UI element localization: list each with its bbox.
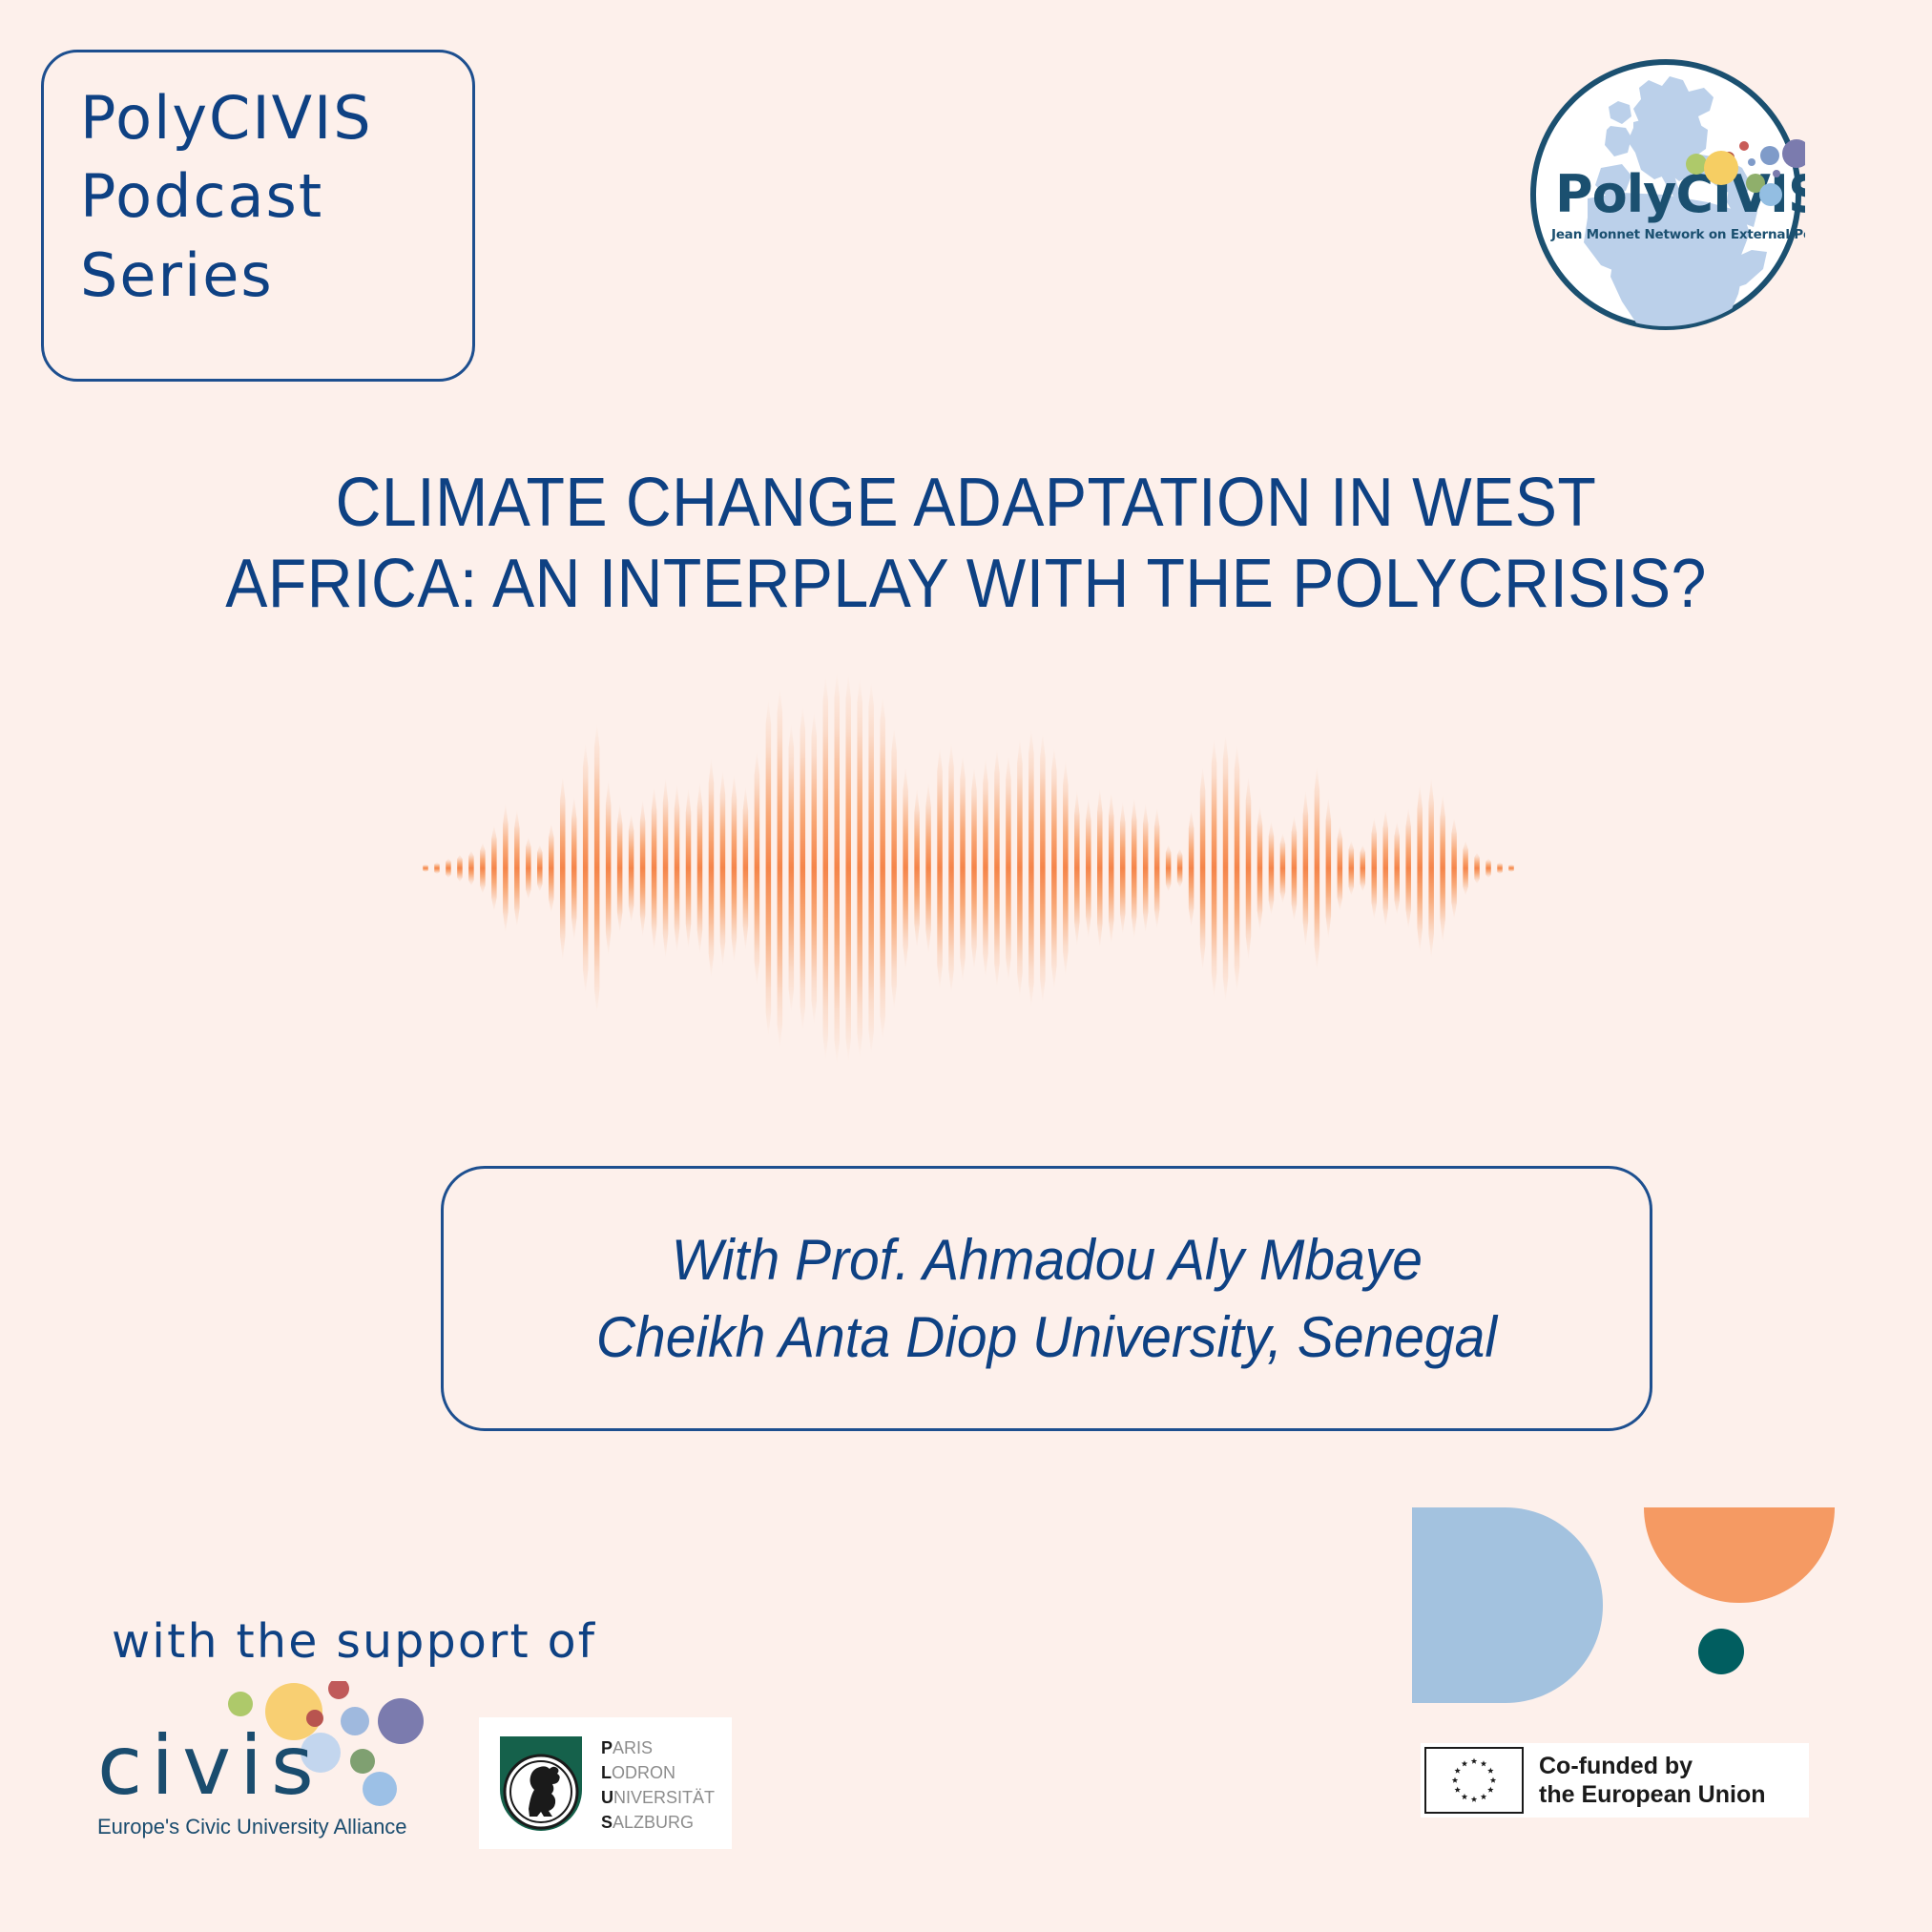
eu-star-icon	[1490, 1777, 1496, 1783]
waveform-bar	[491, 825, 497, 912]
logo-dot-purple-tiny	[1773, 170, 1780, 177]
waveform-bar	[1417, 783, 1423, 952]
civis-dot-periwinkle	[341, 1707, 369, 1735]
civis-dot-green	[228, 1692, 253, 1716]
waveform-bar	[903, 766, 908, 970]
waveform-bar	[640, 800, 646, 937]
waveform-bar	[1051, 746, 1057, 989]
civis-tagline: Europe's Civic University Alliance	[97, 1815, 407, 1839]
eu-star-icon	[1452, 1777, 1458, 1783]
logo-dot-lightblue	[1759, 183, 1782, 206]
eu-flag-icon	[1424, 1747, 1524, 1814]
waveform-bar	[1246, 776, 1252, 961]
waveform-bar	[857, 677, 862, 1059]
waveform-bar	[1063, 760, 1069, 977]
waveform-bar	[1485, 859, 1491, 879]
logo-dot-yellow	[1704, 151, 1738, 185]
waveform-bar	[823, 675, 829, 1061]
waveform-bar	[1394, 821, 1400, 916]
waveform-bar	[1154, 807, 1160, 929]
eu-stars	[1426, 1749, 1522, 1812]
waveform-bar	[891, 727, 897, 1010]
plus-line-3: UNIVERSITÄT	[601, 1788, 715, 1807]
waveform-bar	[1120, 801, 1126, 935]
waveform-bar	[1463, 841, 1468, 896]
audio-waveform	[420, 668, 1517, 1069]
waveform-bar	[526, 837, 531, 900]
waveform-bar	[549, 823, 554, 914]
waveform-bar	[583, 742, 589, 994]
waveform-bar	[1382, 809, 1388, 927]
eu-text-line-2: the European Union	[1539, 1780, 1766, 1810]
plus-salzburg-logo-icon: PARIS LODRON UNIVERSITÄT SALZBURG	[479, 1717, 732, 1849]
eu-star-icon	[1454, 1768, 1460, 1774]
waveform-bar	[663, 778, 669, 959]
waveform-bar	[423, 864, 428, 872]
civis-dot-red	[328, 1681, 349, 1699]
plus-line-1: PARIS	[601, 1738, 653, 1757]
series-line-3: Series	[80, 237, 472, 315]
waveform-bar	[789, 723, 795, 1014]
civis-wordmark: civis	[97, 1718, 322, 1814]
waveform-bar	[1086, 798, 1091, 939]
waveform-bar	[880, 696, 885, 1042]
brand-d-shape-icon	[1412, 1507, 1603, 1703]
waveform-bar	[1097, 788, 1103, 949]
waveform-bar	[1269, 821, 1275, 916]
waveform-bar	[1440, 794, 1445, 944]
waveform-bar	[766, 699, 772, 1037]
waveform-bar	[1223, 735, 1229, 1002]
waveform-bar	[686, 788, 692, 949]
eu-star-icon	[1462, 1794, 1467, 1799]
episode-title: CLIMATE CHANGE ADAPTATION IN WEST AFRICA…	[200, 463, 1732, 625]
waveform-bar	[1074, 790, 1080, 947]
waveform-bar	[434, 862, 440, 874]
waveform-bar	[971, 766, 977, 970]
waveform-bar	[845, 674, 851, 1063]
waveform-bar	[606, 779, 612, 956]
brand-semicircle-icon	[1644, 1507, 1835, 1603]
waveform-bar	[1497, 862, 1503, 874]
eu-star-icon	[1454, 1787, 1460, 1793]
eu-cofunded-logo: Co-funded by the European Union	[1421, 1743, 1809, 1818]
waveform-bar	[925, 781, 931, 954]
speaker-affiliation: Cheikh Anta Diop University, Senegal	[596, 1304, 1497, 1370]
eu-star-icon	[1471, 1797, 1477, 1802]
waveform-bar	[1006, 755, 1011, 983]
series-card: PolyCIVIS Podcast Series	[41, 50, 475, 382]
eu-star-icon	[1481, 1794, 1486, 1799]
series-line-2: Podcast	[80, 157, 472, 236]
waveform-bar	[629, 813, 634, 923]
waveform-bar	[937, 746, 943, 989]
waveform-bar	[594, 723, 600, 1014]
waveform-bar	[1257, 805, 1263, 931]
civis-dot-lightblue	[363, 1772, 397, 1806]
eu-star-icon	[1471, 1758, 1477, 1764]
waveform-bar	[800, 705, 806, 1031]
waveform-bar	[732, 774, 737, 963]
waveform-bar	[1143, 803, 1149, 933]
waveform-bar	[1109, 792, 1114, 945]
waveform-bar	[1292, 815, 1298, 921]
waveform-bar	[1166, 844, 1172, 891]
waveform-bar	[834, 672, 840, 1065]
waveform-bar	[468, 850, 474, 885]
polycivis-logo-icon: PolyCIVIS Jean Monnet Network on Externa…	[1527, 55, 1805, 334]
logo-dot-green	[1686, 154, 1707, 175]
waveform-bar	[914, 788, 920, 949]
episode-title-line-1: CLIMATE CHANGE ADAPTATION IN WEST	[200, 463, 1732, 544]
eu-star-icon	[1462, 1760, 1467, 1766]
waveform-bar	[617, 803, 623, 933]
speaker-name: With Prof. Ahmadou Aly Mbaye	[671, 1227, 1422, 1293]
episode-title-line-2: AFRICA: AN INTERPLAY WITH THE POLYCRISIS…	[200, 544, 1732, 625]
waveform-bar	[457, 855, 463, 883]
logo-dot-red-small	[1739, 141, 1749, 151]
waveform-bar	[1235, 744, 1240, 992]
polycivis-logo: PolyCIVIS Jean Monnet Network on Externa…	[1527, 55, 1805, 334]
logo-dot-blue	[1760, 146, 1779, 165]
plus-salzburg-logo: PARIS LODRON UNIVERSITÄT SALZBURG	[479, 1717, 732, 1849]
eu-star-icon	[1487, 1768, 1493, 1774]
brand-shapes	[1412, 1507, 1813, 1717]
waveform-bar	[1428, 778, 1434, 959]
waveform-bar	[1200, 766, 1206, 970]
waveform-bar	[480, 842, 486, 894]
waveform-bar	[560, 776, 566, 961]
waveform-bar	[1405, 807, 1411, 929]
eu-cofunded-text: Co-funded by the European Union	[1539, 1752, 1766, 1810]
waveform-bar	[1017, 738, 1023, 998]
waveform-bar	[1361, 844, 1366, 891]
waveform-bar	[1132, 798, 1137, 939]
civis-dot-purple	[378, 1698, 424, 1744]
waveform-bar	[1338, 825, 1343, 912]
waveform-bar	[1474, 853, 1480, 884]
plus-line-4: SALZBURG	[601, 1813, 694, 1832]
waveform-bar	[1189, 809, 1195, 927]
waveform-bar	[675, 783, 680, 952]
waveform-bar	[960, 755, 966, 983]
series-line-1: PolyCIVIS	[80, 79, 472, 157]
waveform-bar	[1280, 833, 1286, 904]
waveform-bar	[812, 711, 818, 1026]
waveform-bar	[1040, 733, 1046, 1004]
waveform-bar	[1326, 798, 1332, 939]
waveform-bar	[1303, 790, 1309, 947]
eu-text-line-1: Co-funded by	[1539, 1752, 1766, 1781]
brand-dot-icon	[1698, 1629, 1744, 1674]
waveform-bar	[755, 750, 760, 986]
support-label: with the support of	[112, 1614, 596, 1669]
waveform-bar	[778, 687, 783, 1049]
waveform-bar	[948, 742, 954, 994]
waveform-bar	[1177, 848, 1183, 887]
civis-logo: civis Europe's Civic University Alliance	[95, 1681, 439, 1862]
waveform-bar	[709, 758, 715, 979]
logo-tagline: Jean Monnet Network on External Policy: …	[1550, 227, 1805, 242]
eu-star-icon	[1487, 1787, 1493, 1793]
waveform-bar	[1028, 729, 1034, 1008]
audio-waveform-icon	[420, 668, 1517, 1069]
waveform-bar	[537, 844, 543, 891]
waveform-bar	[1315, 766, 1320, 970]
civis-logo-icon: civis Europe's Civic University Alliance	[95, 1681, 439, 1862]
waveform-bar	[503, 803, 509, 933]
speaker-card: With Prof. Ahmadou Aly Mbaye Cheikh Anta…	[441, 1166, 1652, 1431]
waveform-bar	[446, 859, 451, 879]
waveform-bar	[1212, 738, 1217, 998]
plus-line-2: LODRON	[601, 1763, 675, 1782]
waveform-bar	[697, 781, 703, 954]
waveform-bar	[743, 785, 749, 950]
waveform-bar	[994, 748, 1000, 987]
waveform-bar	[1372, 817, 1378, 919]
logo-dot-blue-tiny	[1748, 158, 1755, 166]
waveform-bar	[652, 785, 657, 950]
podcast-poster: PolyCIVIS Podcast Series	[0, 0, 1932, 1932]
waveform-bar	[1508, 864, 1514, 872]
waveform-bar	[868, 681, 874, 1054]
civis-dot-olive	[350, 1749, 375, 1774]
waveform-bar	[983, 758, 988, 979]
waveform-bar	[1451, 817, 1457, 919]
waveform-bar	[571, 796, 577, 941]
eu-star-icon	[1481, 1760, 1486, 1766]
waveform-bar	[514, 809, 520, 927]
waveform-bar	[1349, 841, 1355, 896]
waveform-bar	[720, 770, 726, 966]
